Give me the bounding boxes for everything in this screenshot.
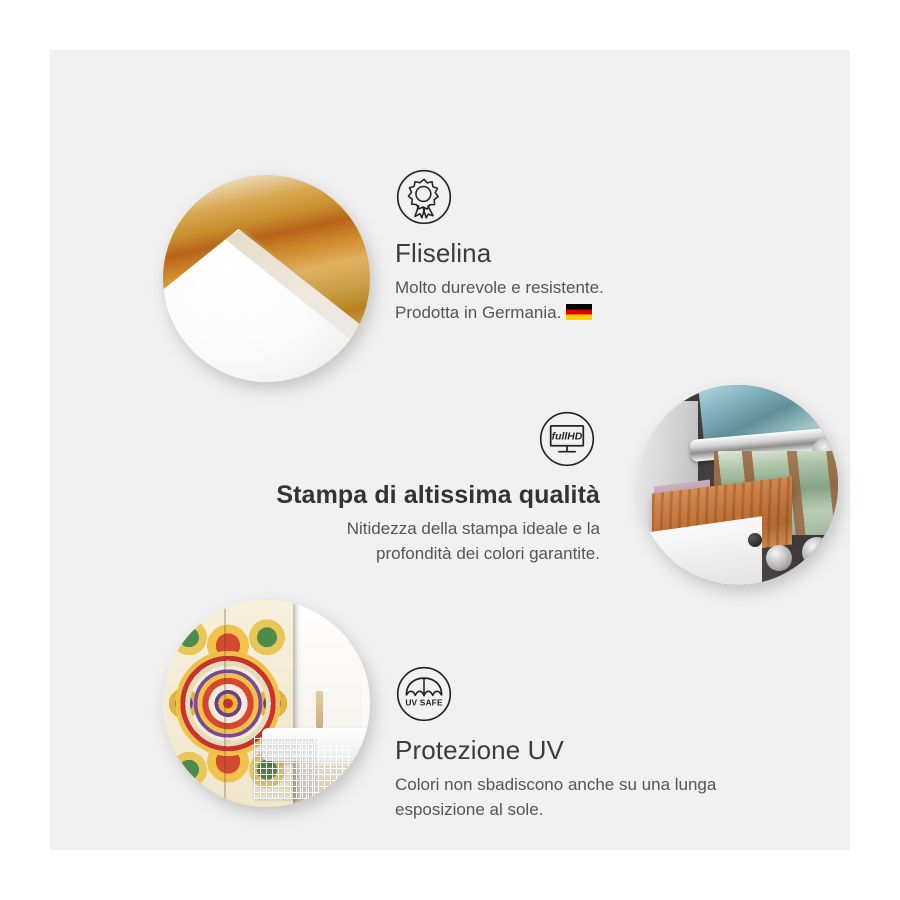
feature-fliselina: Fliselina Molto durevole e resistente. P… [395,168,825,325]
description-line: Nitidezza della stampa ideale e la [240,516,600,541]
candle-holder [316,691,323,728]
feature-title: Stampa di altissima qualità [240,480,600,510]
mandala-mural-room-photo [163,600,370,807]
photo-inner [163,600,370,807]
feature-title: Fliselina [395,238,825,269]
room-window [291,604,361,732]
award-rosette-icon [395,168,453,226]
feature-description: Molto durevole e resistente. Prodotta in… [395,275,825,325]
uv-safe-label: UV SAFE [405,697,443,707]
description-line: esposizione al sole. [395,797,815,822]
wire-mesh-chair-secondary [300,745,354,799]
description-line: profondità dei colori garantite. [240,541,600,566]
description-line-text: Prodotta in Germania. [395,303,561,322]
description-line-with-flag: Prodotta in Germania. [395,300,825,325]
feature-description: Nitidezza della stampa ideale e la profo… [240,516,600,566]
content-panel: Fliselina Molto durevole e resistente. P… [50,50,850,850]
printer-wheel-secondary [802,537,832,567]
german-flag-icon [566,304,592,320]
photo-inner [638,385,838,585]
wide-format-printer-photo [638,385,838,585]
printer-knob [748,533,762,547]
feature-uv-protection: UV SAFE Protezione UV Colori non sbadisc… [395,665,815,822]
infographic-stage: Fliselina Molto durevole e resistente. P… [0,0,900,900]
feature-title: Protezione UV [395,735,815,766]
uv-safe-umbrella-icon: UV SAFE [395,665,453,723]
description-line: Colori non sbadiscono anche su una lunga [395,772,815,797]
feature-description: Colori non sbadiscono anche su una lunga… [395,772,815,822]
feature-print-quality: fullHD Stampa di altissima qualità Nitid… [240,410,600,566]
photo-inner [163,175,370,382]
mural-panel-seam [224,600,226,807]
fullhd-label: fullHD [552,431,583,442]
fullhd-monitor-icon: fullHD [538,410,596,468]
peeling-wallpaper-photo [163,175,370,382]
description-line: Molto durevole e resistente. [395,275,825,300]
printer-wheel [766,545,792,571]
